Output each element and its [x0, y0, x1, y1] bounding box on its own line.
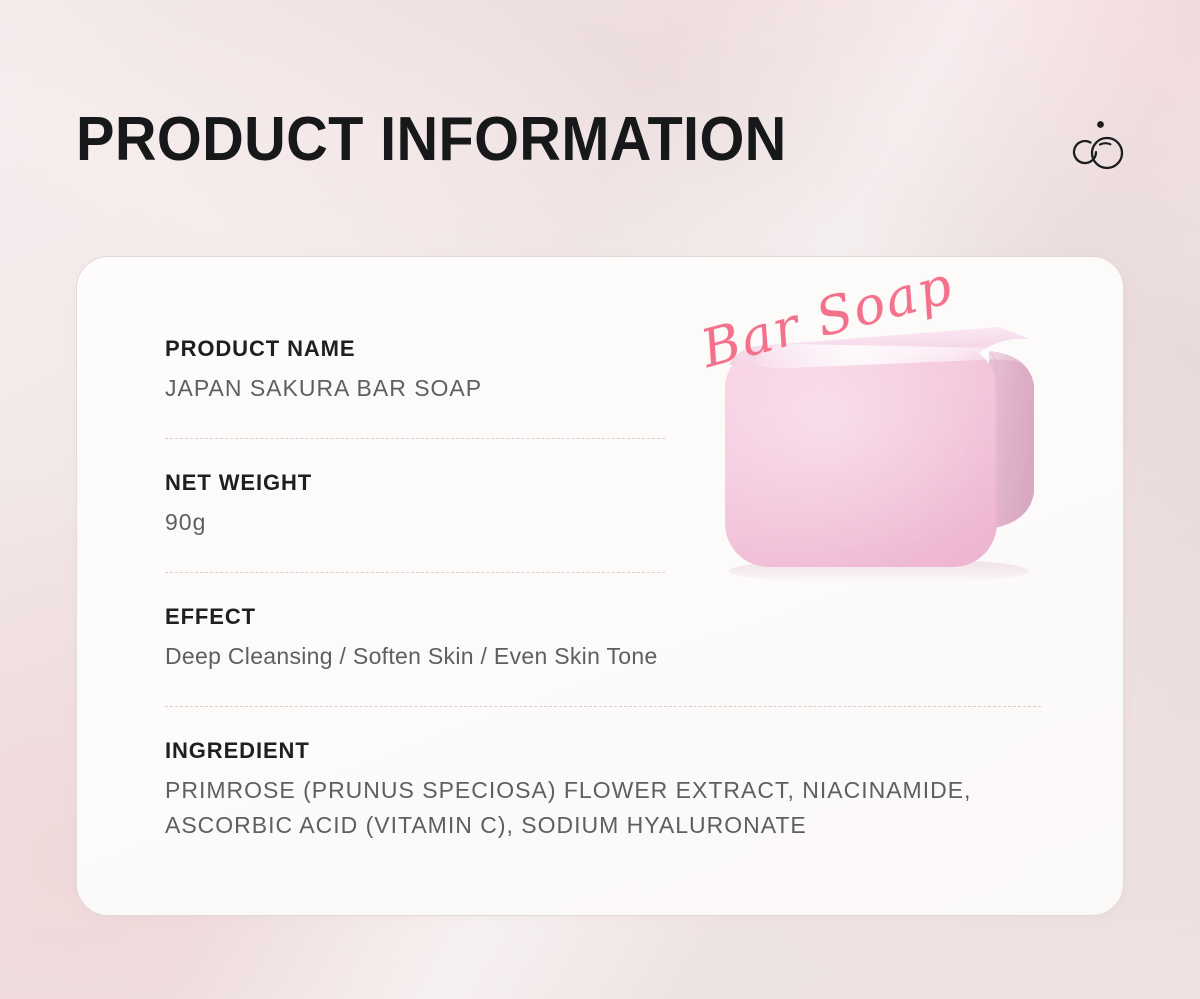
spec-row-effect: EFFECT Deep Cleansing / Soften Skin / Ev… [165, 603, 1041, 672]
row-divider-2 [165, 572, 665, 573]
page-title: PRODUCT INFORMATION [76, 109, 787, 171]
spec-label-net-weight: NET WEIGHT [165, 469, 1041, 497]
spec-label-ingredient: INGREDIENT [165, 737, 1041, 765]
spec-value-product-name: JAPAN SAKURA BAR SOAP [165, 372, 1041, 405]
spec-value-effect: Deep Cleansing / Soften Skin / Even Skin… [165, 640, 1041, 673]
spec-row-net-weight: NET WEIGHT 90g [165, 469, 1041, 538]
product-spec-list: PRODUCT NAME JAPAN SAKURA BAR SOAP NET W… [165, 335, 1041, 841]
spec-value-net-weight: 90g [165, 506, 1041, 539]
spec-value-ingredient-line-2: ASCORBIC ACID (VITAMIN C), SODIUM HYALUR… [165, 809, 1041, 842]
spec-row-product-name: PRODUCT NAME JAPAN SAKURA BAR SOAP [165, 335, 1041, 404]
product-info-card: Bar Soap [76, 256, 1124, 916]
spec-label-effect: EFFECT [165, 603, 1041, 631]
spec-row-ingredient: INGREDIENT PRIMROSE (PRUNUS SPECIOSA) FL… [165, 737, 1041, 841]
spec-label-product-name: PRODUCT NAME [165, 335, 1041, 363]
page-header: PRODUCT INFORMATION [0, 0, 1200, 250]
row-divider-1 [165, 438, 665, 439]
row-divider-3 [165, 706, 1041, 707]
spec-value-ingredient-line-1: PRIMROSE (PRUNUS SPECIOSA) FLOWER EXTRAC… [165, 774, 1041, 807]
bubbles-icon [1066, 118, 1130, 174]
